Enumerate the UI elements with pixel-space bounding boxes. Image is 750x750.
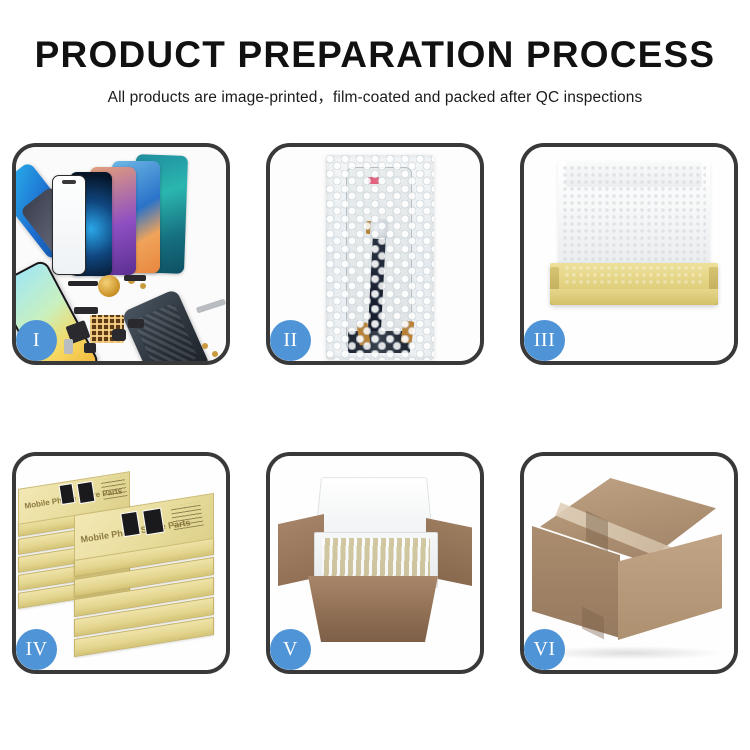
screw-part-2 [140,283,146,289]
step-badge-5: V [270,629,311,670]
page-subtitle: All products are image-printed，film-coat… [0,85,750,107]
step-1-image: I [16,147,226,361]
screwdriver-tool [196,299,226,314]
flex-cable-part-1 [74,307,98,314]
box-spec-lines-back [101,476,128,500]
carton-body-open [308,576,438,642]
foam-box-lid-open [315,477,434,540]
box-screen-image-front-2 [142,508,165,536]
process-step-panel-3: III [520,143,738,365]
battery-connector-part [84,343,96,353]
sim-tray-part [64,339,73,354]
process-step-panel-6: VI [520,452,738,674]
yellow-inner-box [550,263,718,305]
bubble-wrap-bag [326,155,434,360]
step-5-image: V [270,456,480,670]
white-foam-lid [558,161,710,273]
process-step-panel-5: V [266,452,484,674]
camera-module-part [112,329,126,341]
process-steps-grid: I II [12,143,738,683]
foam-texture [562,165,706,269]
page-header: PRODUCT PREPARATION PROCESS All products… [0,0,750,107]
process-step-panel-2: II [266,143,484,365]
step-3-image: III [524,147,734,361]
box-spec-lines-front [170,502,203,530]
product-preparation-process-page: PRODUCT PREPARATION PROCESS All products… [0,0,750,750]
box-screen-image-front-1 [120,511,141,537]
wrapped-product-inside-box [564,265,704,285]
step-badge-2: II [270,320,311,361]
step-6-image: VI [524,456,734,670]
screw-part-4 [212,351,218,357]
step-4-image: Mobile Phone Spare Parts Mobile Phone Sp… [16,456,226,670]
box-screen-image-back-2 [76,481,95,504]
bubble-wrap-texture [326,155,434,360]
step-badge-1: I [16,320,57,361]
box-front-lip [550,289,718,305]
screw-part-3 [202,343,208,349]
step-2-image: II [270,147,480,361]
yellow-boxes-inside-carton [322,538,430,580]
process-step-panel-4: Mobile Phone Spare Parts Mobile Phone Sp… [12,452,230,674]
step-badge-4: IV [16,629,57,670]
page-title: PRODUCT PREPARATION PROCESS [0,36,750,75]
phone-notch [62,180,76,184]
process-step-panel-1: I [12,143,230,365]
step-badge-6: VI [524,629,565,670]
earpiece-mesh-part [68,281,98,286]
vibration-motor-part [98,275,120,297]
button-flex-part [124,275,146,281]
box-screen-image-back-1 [59,483,76,505]
step-badge-3: III [524,320,565,361]
speaker-part [128,319,144,328]
phone-glass-white [52,175,86,275]
